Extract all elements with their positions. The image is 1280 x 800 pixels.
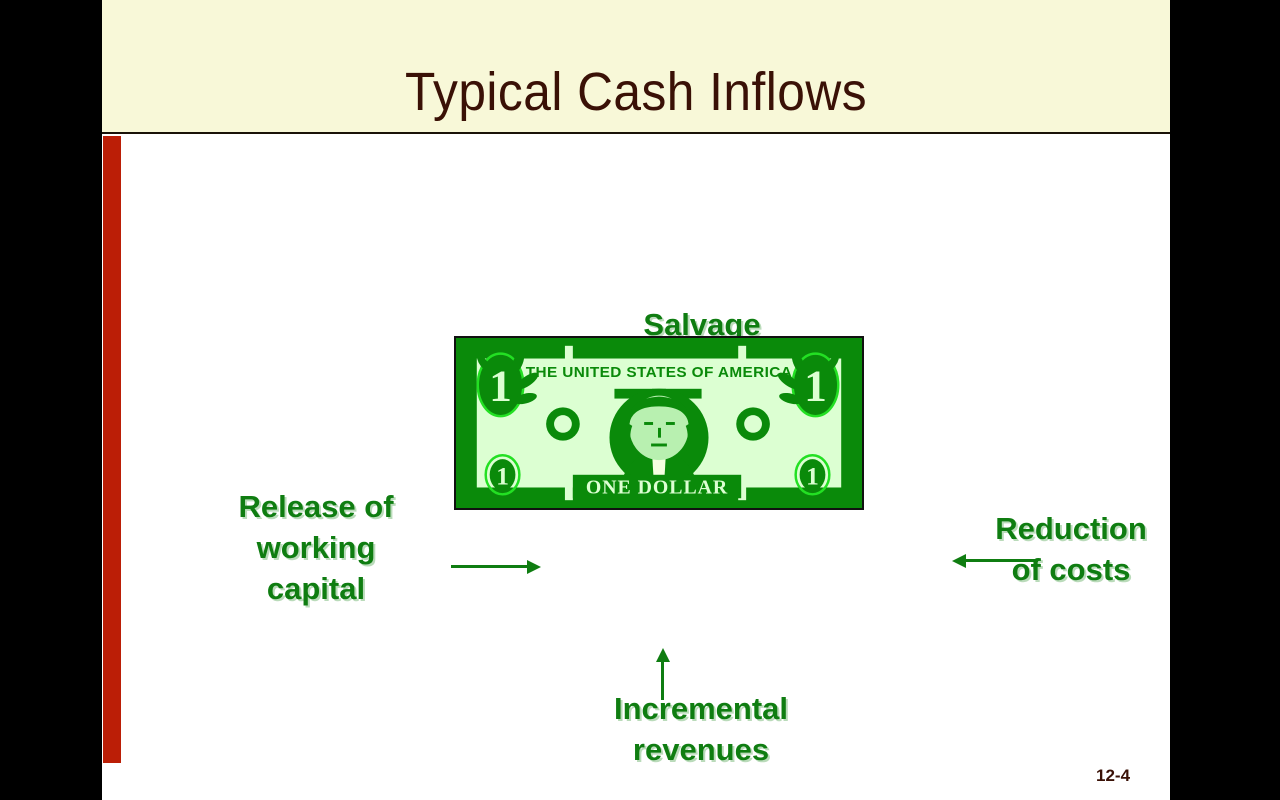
label-incremental-revenues: Incremental revenues bbox=[541, 688, 861, 770]
arrow-left-reduction-of-costs bbox=[952, 554, 1038, 568]
svg-text:1: 1 bbox=[489, 361, 512, 411]
page-number: 12-4 bbox=[1096, 766, 1130, 786]
slide-header-band: Typical Cash Inflows bbox=[102, 0, 1170, 134]
presentation-slide: Typical Cash Inflows Salvage value Relea… bbox=[102, 0, 1170, 800]
slide-viewer: Typical Cash Inflows Salvage value Relea… bbox=[0, 0, 1280, 800]
slide-body: Salvage value Release of working capital… bbox=[121, 136, 1170, 800]
arrow-up-incremental-revenues bbox=[656, 648, 670, 700]
label-release-of-working-capital: Release of working capital bbox=[181, 486, 451, 609]
arrow-shaft bbox=[451, 565, 529, 568]
bill-bottom-text: ONE DOLLAR bbox=[586, 476, 728, 498]
bill-top-text: THE UNITED STATES OF AMERICA bbox=[526, 364, 792, 381]
accent-bar bbox=[103, 136, 121, 763]
svg-text:1: 1 bbox=[804, 361, 827, 411]
svg-text:1: 1 bbox=[806, 462, 819, 491]
arrow-head bbox=[952, 554, 966, 568]
arrow-shaft bbox=[964, 559, 1038, 562]
page-title: Typical Cash Inflows bbox=[145, 62, 1128, 122]
svg-text:1: 1 bbox=[496, 462, 509, 491]
arrow-right-release-of-working-capital bbox=[451, 560, 541, 574]
arrow-shaft bbox=[661, 658, 664, 700]
label-reduction-of-costs: Reduction of costs bbox=[931, 508, 1211, 590]
arrow-head bbox=[527, 560, 541, 574]
dollar-bill-svg: 1 1 bbox=[456, 338, 862, 508]
dollar-bill-image: 1 1 bbox=[454, 336, 864, 510]
arrow-head bbox=[656, 648, 670, 662]
